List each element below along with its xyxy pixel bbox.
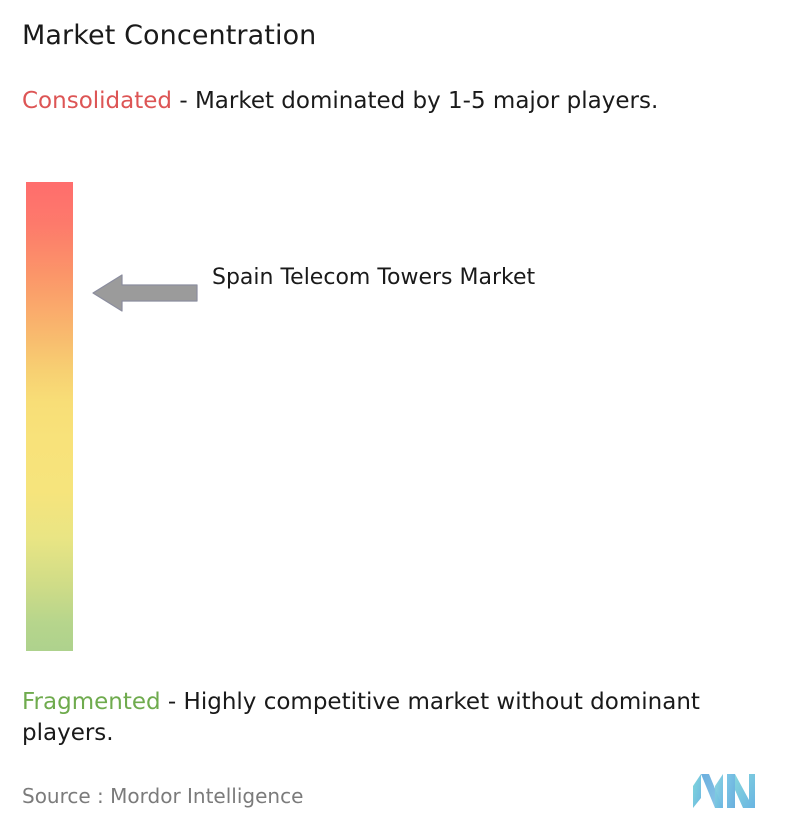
callout-label-market: Spain Telecom Towers Market xyxy=(212,260,562,295)
mordor-intelligence-logo xyxy=(693,772,755,812)
market-concentration-chart: Market Concentration Consolidated - Mark… xyxy=(0,0,796,834)
page-title: Market Concentration xyxy=(22,19,316,53)
legend-term-fragmented: Fragmented xyxy=(22,689,161,715)
legend-fragmented: Fragmented - Highly competitive market w… xyxy=(22,687,788,749)
legend-term-consolidated: Consolidated xyxy=(22,88,172,114)
legend-consolidated: Consolidated - Market dominated by 1-5 m… xyxy=(22,86,782,117)
arrow-left-icon xyxy=(92,271,198,315)
legend-description-consolidated: - Market dominated by 1-5 major players. xyxy=(179,88,658,114)
source-attribution: Source : Mordor Intelligence xyxy=(22,783,303,809)
concentration-gradient-bar xyxy=(26,182,73,651)
